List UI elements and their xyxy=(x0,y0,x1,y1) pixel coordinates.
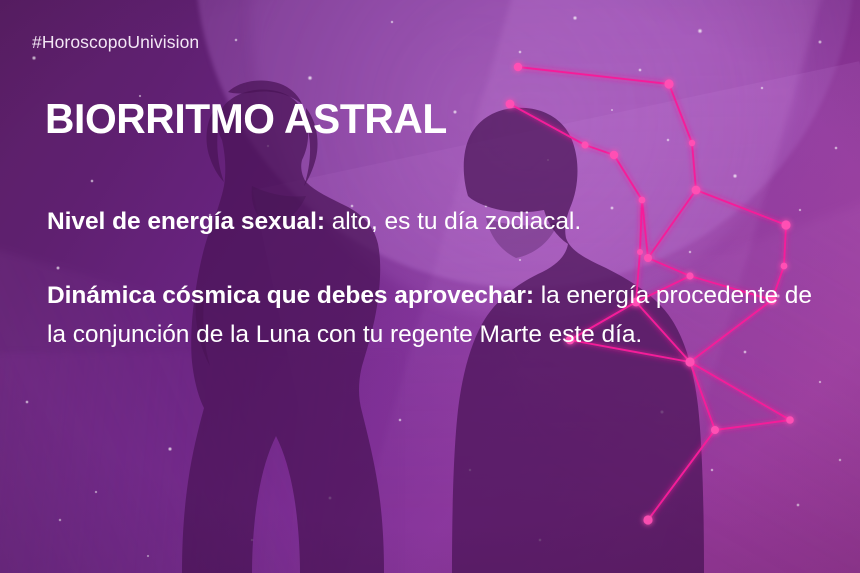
horoscope-card: #HoroscopoUnivision BIORRITMO ASTRAL Niv… xyxy=(0,0,860,573)
hashtag-label: #HoroscopoUnivision xyxy=(32,32,199,53)
energy-value: alto, es tu día zodiacal. xyxy=(325,208,581,235)
paragraph-gap xyxy=(47,241,822,276)
energy-label: Nivel de energía sexual: xyxy=(47,208,325,235)
energy-line: Nivel de energía sexual: alto, es tu día… xyxy=(47,202,822,241)
page-title: BIORRITMO ASTRAL xyxy=(45,96,447,142)
body-copy: Nivel de energía sexual: alto, es tu día… xyxy=(47,202,822,354)
dynamic-label: Dinámica cósmica que debes aprovechar: xyxy=(47,282,534,309)
dynamic-line: Dinámica cósmica que debes aprovechar: l… xyxy=(47,276,822,354)
